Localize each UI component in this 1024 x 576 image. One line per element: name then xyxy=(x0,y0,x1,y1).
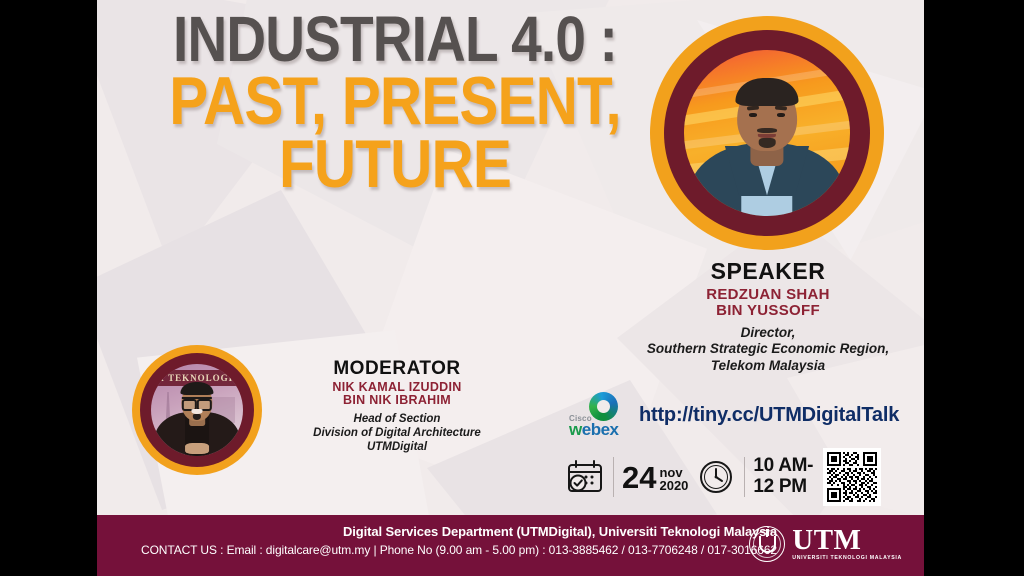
utm-seal-icon xyxy=(749,526,785,562)
background-facet xyxy=(97,190,417,510)
utm-wordmark-subtitle: UNIVERSITI TEKNOLOGI MALAYSIA xyxy=(792,555,902,561)
utm-wordmark: UTM xyxy=(792,527,902,553)
event-poster: INDUSTRIAL 4.0 : PAST, PRESENT, FUTURE xyxy=(97,0,924,576)
speaker-name-line-1: REDZUAN SHAH xyxy=(706,286,830,303)
footer-department-line: Digital Services Department (UTMDigital)… xyxy=(97,524,777,539)
moderator-affiliation-line-1: Head of Section xyxy=(354,413,441,425)
clock-icon xyxy=(696,457,736,497)
screenshot-canvas: INDUSTRIAL 4.0 : PAST, PRESENT, FUTURE xyxy=(0,0,1024,576)
footer-contact-line: CONTACT US : Email : digitalcare@utm.my … xyxy=(97,543,777,557)
moderator-name: NIK KAMAL IZUDDIN BIN NIK IBRAHIM xyxy=(262,381,532,408)
speaker-name: REDZUAN SHAH BIN YUSSOFF xyxy=(637,287,899,319)
eye-left xyxy=(749,113,757,117)
utm-logo: UTM UNIVERSITI TEKNOLOGI MALAYSIA xyxy=(749,526,902,562)
webex-circle-icon xyxy=(589,392,618,421)
speaker-role-label: SPEAKER xyxy=(637,258,899,285)
hands xyxy=(185,443,209,454)
moderator-details: MODERATOR NIK KAMAL IZUDDIN BIN NIK IBRA… xyxy=(262,358,532,454)
moustache xyxy=(757,128,777,133)
speaker-name-line-2: BIN YUSSOFF xyxy=(716,302,820,319)
speaker-affiliation-line-1: Director, xyxy=(741,325,796,340)
event-month-year: nov 2020 xyxy=(659,466,688,493)
pillarbox-right xyxy=(924,0,1024,576)
event-year: 2020 xyxy=(659,478,688,493)
hair xyxy=(180,382,213,395)
eyeglasses xyxy=(182,397,212,407)
webex-wordmark-part-1: w xyxy=(569,420,582,439)
utm-wordmark-group: UTM UNIVERSITI TEKNOLOGI MALAYSIA xyxy=(792,527,902,560)
moderator-affiliation: Head of Section Division of Digital Arch… xyxy=(262,412,532,454)
moderator-name-line-1: NIK KAMAL IZUDDIN xyxy=(332,380,461,394)
speaker-affiliation-line-2: Southern Strategic Economic Region, xyxy=(647,341,889,356)
footer-contact-text: Digital Services Department (UTMDigital)… xyxy=(97,524,787,557)
eye-right xyxy=(777,113,785,117)
moderator-affiliation-line-3: UTMDigital xyxy=(367,441,427,453)
event-time-line-1: 10 AM- xyxy=(753,455,813,476)
registration-link[interactable]: http://tiny.cc/UTMDigitalTalk xyxy=(639,404,899,427)
pillarbox-left xyxy=(0,0,97,576)
hair xyxy=(735,78,798,106)
moderator-affiliation-line-2: Division of Digital Architecture xyxy=(313,427,481,439)
footer-bar: Digital Services Department (UTMDigital)… xyxy=(97,515,924,576)
moderator-portrait-image: UNIVERSITI TEKNOLOGI MALAYSIA xyxy=(151,364,243,456)
event-time: 10 AM- 12 PM xyxy=(753,456,813,497)
headline-line-2: PAST, PRESENT, xyxy=(154,70,636,133)
webex-wordmark-part-2: ebex xyxy=(582,420,619,439)
divider xyxy=(613,457,614,497)
utm-emblem-glyph xyxy=(759,536,776,553)
speaker-affiliation: Director, Southern Strategic Economic Re… xyxy=(637,325,899,374)
poster-headline: INDUSTRIAL 4.0 : PAST, PRESENT, FUTURE xyxy=(115,10,675,196)
webex-wordmark: webex xyxy=(569,420,618,440)
headline-line-1: INDUSTRIAL 4.0 : xyxy=(154,10,636,70)
moderator-photo: UNIVERSITI TEKNOLOGI MALAYSIA xyxy=(132,345,262,475)
event-date: 24 nov 2020 xyxy=(622,462,688,493)
speaker-figure xyxy=(684,50,850,216)
moderator-name-line-2: BIN NIK IBRAHIM xyxy=(343,393,451,407)
speaker-affiliation-line-3: Telekom Malaysia xyxy=(711,358,825,373)
calendar-icon xyxy=(565,457,605,497)
speaker-portrait-image xyxy=(684,50,850,216)
event-datetime-row: 24 nov 2020 10 AM- 12 PM xyxy=(565,448,881,506)
headline-line-3: FUTURE xyxy=(154,133,636,196)
speaker-photo xyxy=(650,16,884,250)
cisco-webex-logo: Cisco webex xyxy=(567,392,629,438)
divider xyxy=(744,457,745,497)
moderator-role-label: MODERATOR xyxy=(262,358,532,380)
speaker-details: SPEAKER REDZUAN SHAH BIN YUSSOFF Directo… xyxy=(637,258,899,374)
goatee xyxy=(759,138,776,148)
event-day: 24 xyxy=(622,462,656,493)
event-time-line-2: 12 PM xyxy=(753,476,806,497)
platform-link-row: Cisco webex http://tiny.cc/UTMDigitalTal… xyxy=(567,392,899,438)
qr-code[interactable] xyxy=(823,448,881,506)
